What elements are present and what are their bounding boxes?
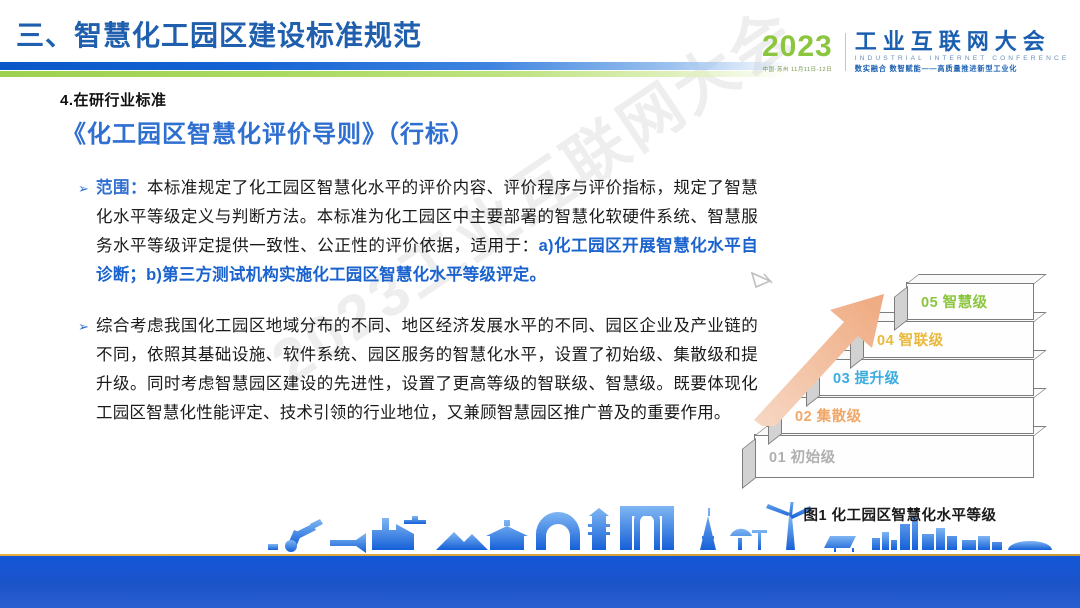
standard-title: 《化工园区智慧化评价导则》（行标）: [62, 114, 475, 149]
growth-arrow-icon: [748, 286, 908, 426]
logo-slogan: 数实融合 数智赋能——高质量推进新型工业化: [855, 64, 1070, 74]
bullet-label-scope: 范围：: [96, 179, 147, 197]
logo-name-block: 工业互联网大会 INDUSTRIAL INTERNET CONFERENCE 数…: [855, 30, 1070, 73]
figure-maturity-levels: 01 初始级 02 集散级 03 提升级 04 智联级: [740, 276, 1060, 541]
logo-year-block: 2023 中国·苏州 11月11日-12日: [762, 32, 843, 73]
step-01: 01 初始级: [754, 434, 1034, 478]
logo-date: 中国·苏州 11月11日-12日: [762, 65, 833, 73]
bullet-text-scope: 范围：本标准规定了化工园区智慧化水平的评价内容、评价程序与评价指标，规定了智慧化…: [96, 174, 758, 290]
logo-divider: [845, 33, 846, 71]
conference-logo: 2023 中国·苏州 11月11日-12日 工业互联网大会 INDUSTRIAL…: [762, 24, 1072, 80]
bullet-item-levels: ➢ 综合考虑我国化工园区地域分布的不同、地区经济发展水平的不同、园区企业及产业链…: [78, 312, 758, 428]
step-05: 05 智慧级: [906, 282, 1034, 320]
figure-caption: 图1 化工园区智慧化水平等级: [740, 504, 1060, 525]
page-title: 三、智慧化工园区建设标准规范: [16, 14, 422, 54]
chevron-right-icon: ➢: [78, 174, 96, 290]
logo-name-en: INDUSTRIAL INTERNET CONFERENCE: [855, 55, 1070, 62]
footer-blue-band: [0, 556, 1080, 608]
slide-content: 4.在研行业标准 《化工园区智慧化评价导则》（行标） ➢ 范围：本标准规定了化工…: [0, 86, 1080, 526]
logo-year: 2023: [762, 32, 833, 62]
step-01-label: 01 初始级: [755, 446, 836, 467]
header-rule-blue: [0, 62, 790, 70]
step-05-label: 05 智慧级: [907, 291, 988, 312]
bullet-text-levels: 综合考虑我国化工园区地域分布的不同、地区经济发展水平的不同、园区企业及产业链的不…: [96, 312, 758, 428]
step-01-side: [742, 438, 756, 489]
sub-heading: 4.在研行业标准: [60, 89, 167, 110]
staircase-graphic: 01 初始级 02 集散级 03 提升级 04 智联级: [740, 276, 1060, 486]
chevron-right-icon-2: ➢: [78, 312, 96, 428]
step-05-top: [906, 274, 1047, 284]
bullet-body-levels: 综合考虑我国化工园区地域分布的不同、地区经济发展水平的不同、园区企业及产业链的不…: [96, 317, 758, 422]
bullet-list: ➢ 范围：本标准规定了化工园区智慧化水平的评价内容、评价程序与评价指标，规定了智…: [78, 174, 758, 450]
bullet-item-scope: ➢ 范围：本标准规定了化工园区智慧化水平的评价内容、评价程序与评价指标，规定了智…: [78, 174, 758, 290]
header-rule-green: [0, 71, 790, 77]
logo-name-cn: 工业互联网大会: [855, 30, 1070, 53]
